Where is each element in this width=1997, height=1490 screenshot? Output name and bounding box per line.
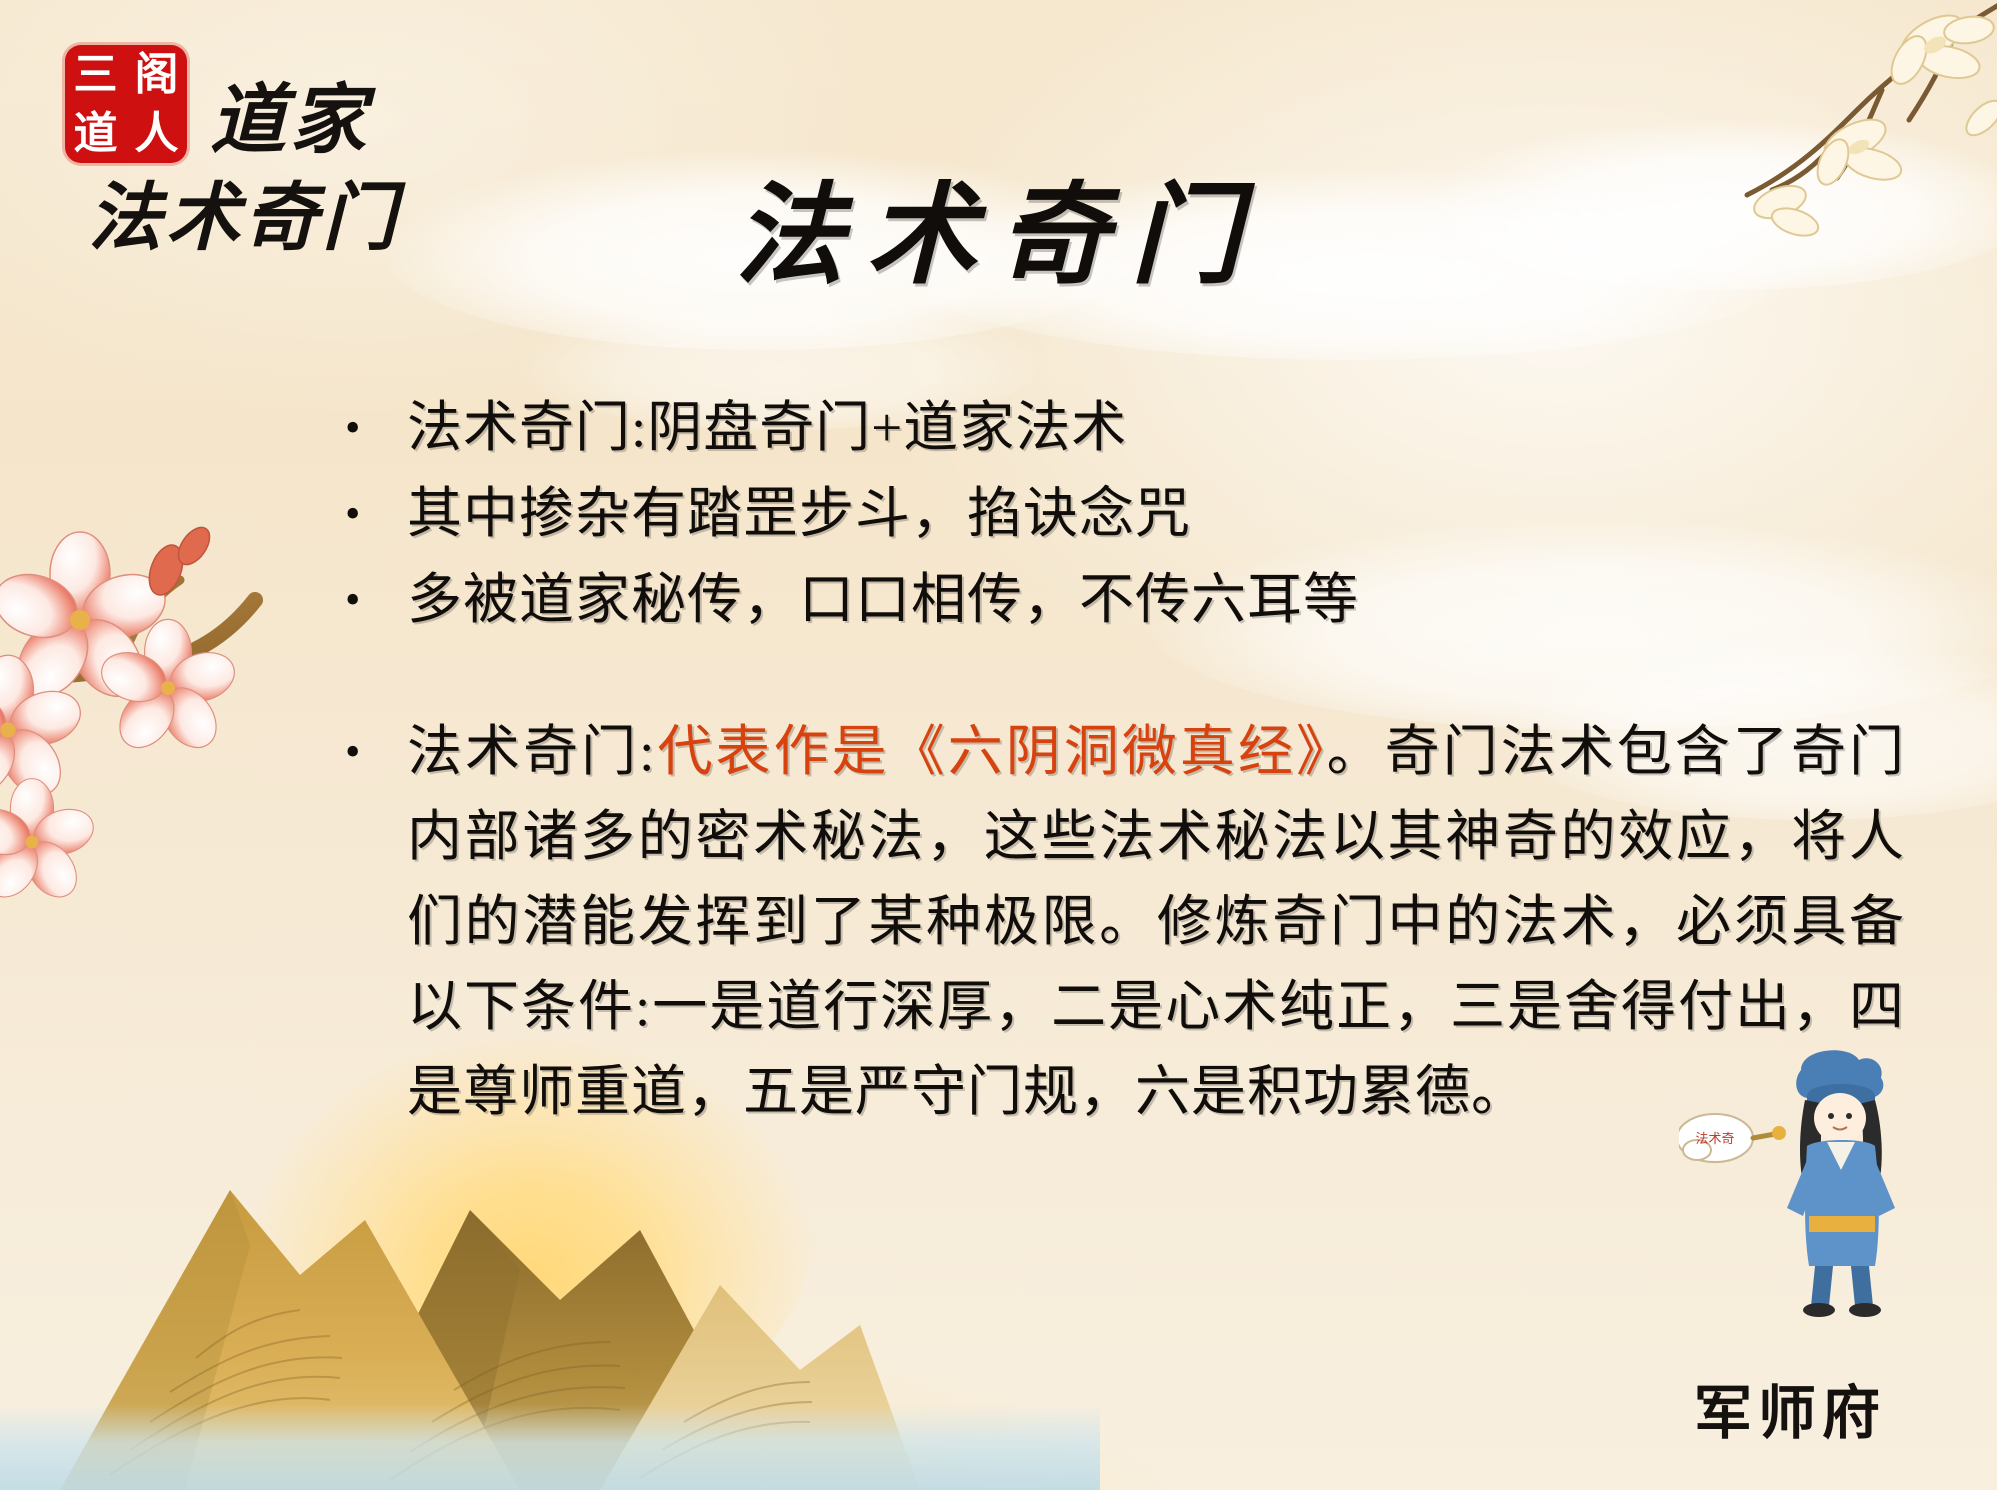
list-item-text: 其中掺杂有踏罡步斗，掐诀念咒 xyxy=(407,471,1905,557)
seal-char: 三 xyxy=(65,45,126,104)
paragraph-lead: 法术奇门: xyxy=(407,721,655,782)
list-item-text: 多被道家秘传，口口相传，不传六耳等 xyxy=(407,557,1905,643)
paragraph-text: 法术奇门:代表作是《六阴洞微真经》。奇门法术包含了奇门内部诸多的密术秘法，这些法… xyxy=(407,709,1905,1134)
plum-blossom-illustration xyxy=(0,430,360,930)
paragraph-item: • 法术奇门:代表作是《六阴洞微真经》。奇门法术包含了奇门内部诸多的密术秘法，这… xyxy=(345,709,1905,1134)
bullet-marker-icon: • xyxy=(345,471,407,557)
paragraph-highlight: 代表作是《六阴洞微真经》 xyxy=(655,721,1326,782)
list-item: • 多被道家秘传，口口相传，不传六耳等 xyxy=(345,557,1905,643)
list-item: • 法术奇门:阴盘奇门+道家法术 xyxy=(345,385,1905,471)
slide-canvas: 三 阁 道 人 道家 法术奇门 法术奇门 • 法术奇门:阴盘奇门+道家法术 • … xyxy=(0,0,1997,1490)
bullet-marker-icon: • xyxy=(345,557,407,643)
list-spacer xyxy=(345,643,1905,709)
list-item: • 其中掺杂有踏罡步斗，掐诀念咒 xyxy=(345,471,1905,557)
bullet-marker-icon: • xyxy=(345,709,407,795)
slide-body: • 法术奇门:阴盘奇门+道家法术 • 其中掺杂有踏罡步斗，掐诀念咒 • 多被道家… xyxy=(345,385,1905,1134)
bullet-marker-icon: • xyxy=(345,385,407,471)
water-strip xyxy=(0,1404,1100,1490)
mascot-label: 军师府 xyxy=(1675,1366,1905,1450)
list-item-text: 法术奇门:阴盘奇门+道家法术 xyxy=(407,385,1905,471)
page-title: 法术奇门 xyxy=(0,145,1997,305)
seal-char: 阁 xyxy=(126,45,187,104)
